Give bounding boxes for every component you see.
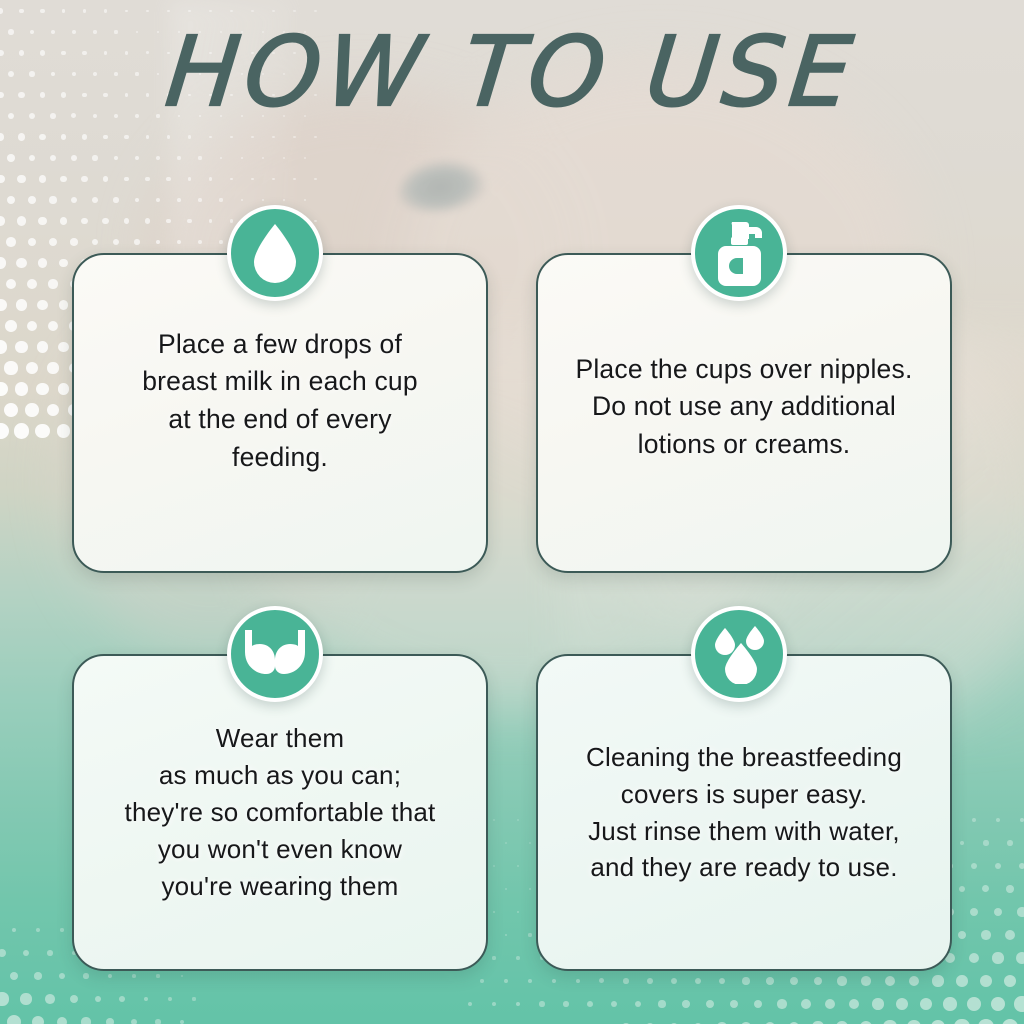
bra-icon: [227, 606, 323, 702]
poster-canvas: HOW TO USE Place a few drops of breast m…: [0, 0, 1024, 1024]
step-1-text: Place a few drops of breast milk in each…: [142, 326, 418, 477]
page-title: HOW TO USE: [0, 22, 1024, 123]
step-card-2: Place the cups over nipples. Do not use …: [536, 253, 952, 573]
water-drop-icon: [227, 205, 323, 301]
step-3-text: Wear them as much as you can; they're so…: [125, 720, 436, 905]
step-card-1: Place a few drops of breast milk in each…: [72, 253, 488, 573]
water-droplets-icon: [691, 606, 787, 702]
step-4-text: Cleaning the breastfeeding covers is sup…: [586, 739, 902, 887]
lotion-pump-bottle-icon: [691, 205, 787, 301]
step-2-text: Place the cups over nipples. Do not use …: [575, 351, 912, 464]
